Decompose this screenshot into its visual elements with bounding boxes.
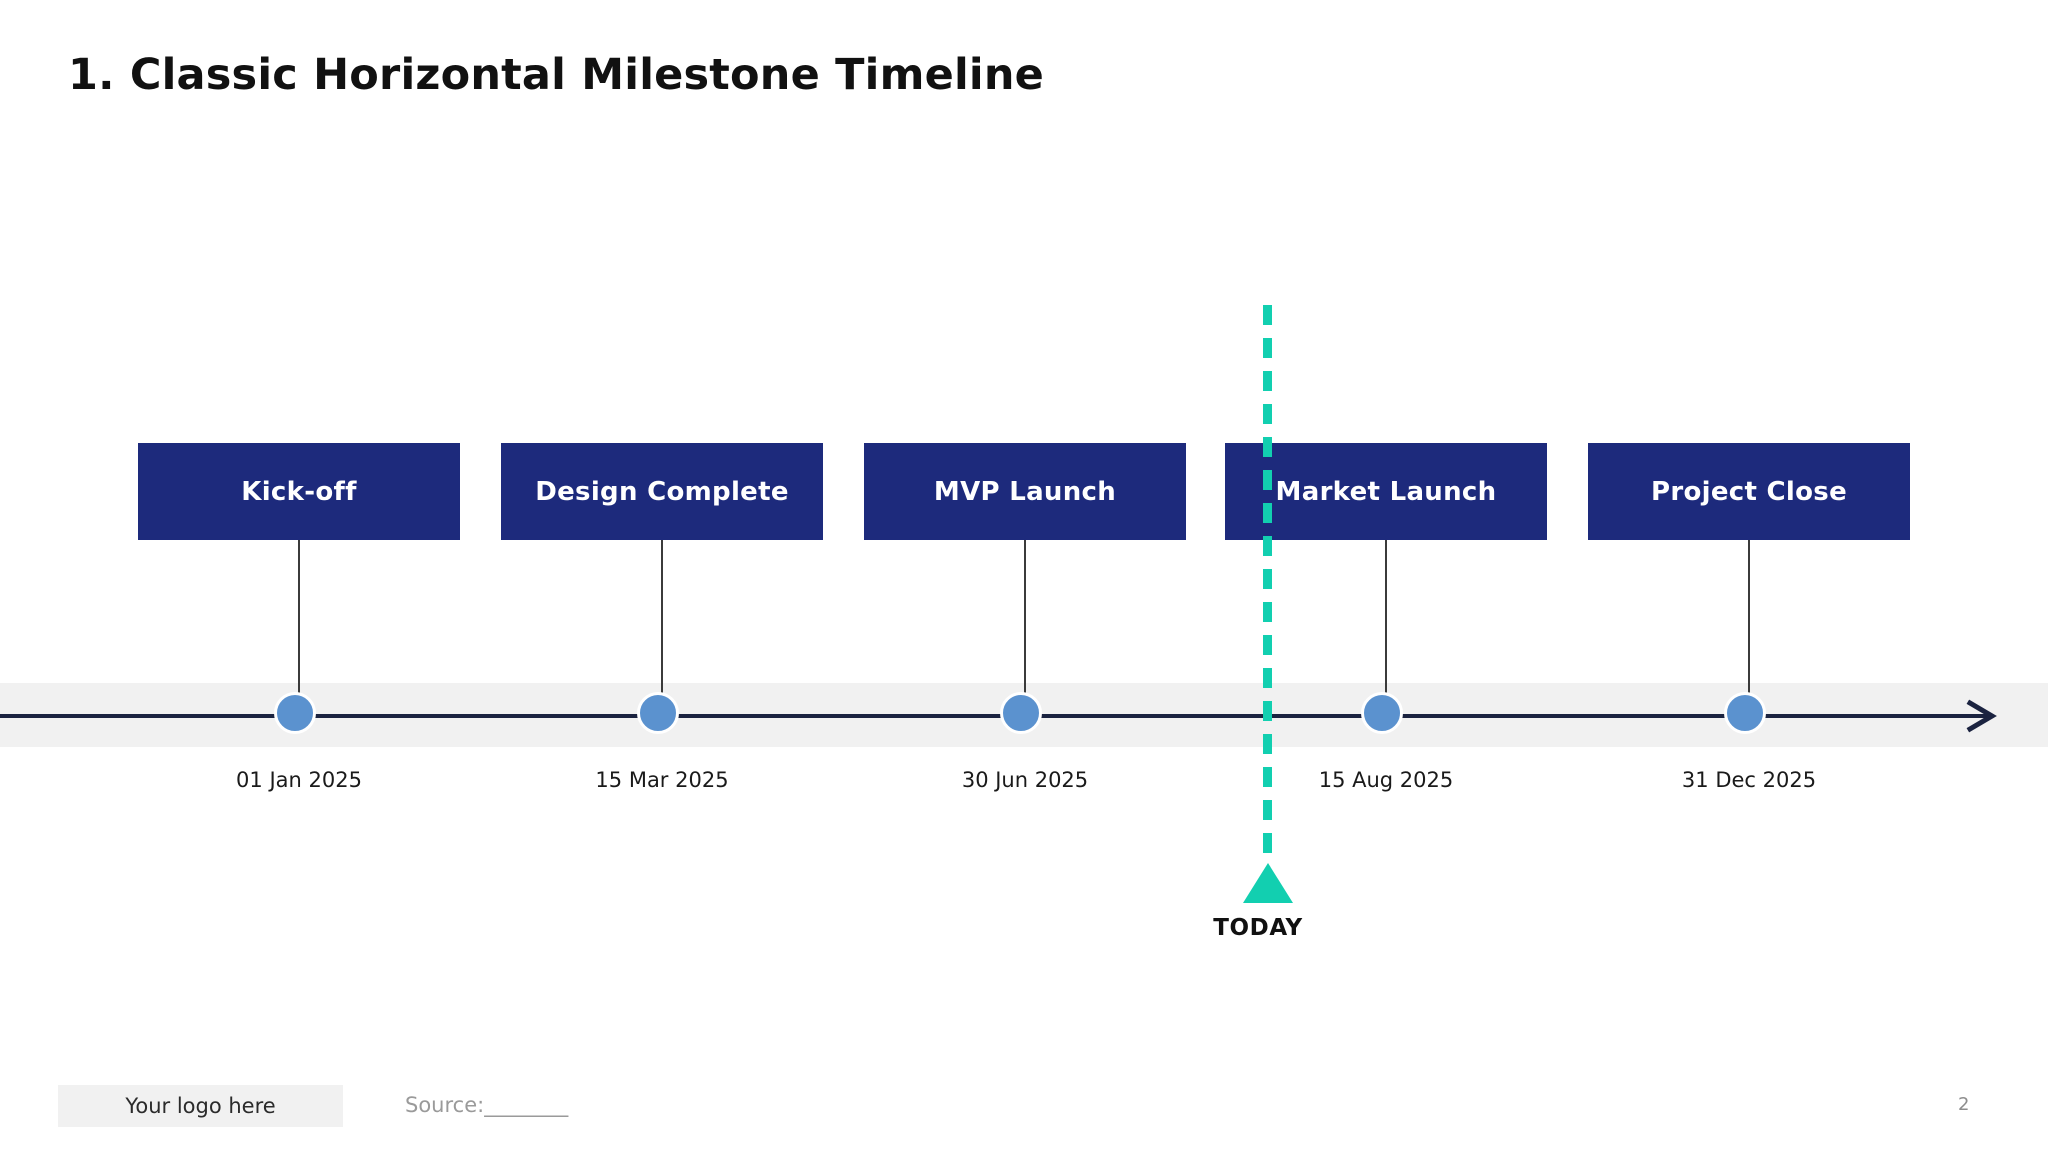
milestone-dot[interactable] bbox=[274, 692, 316, 734]
milestone-box[interactable]: Design Complete bbox=[501, 443, 823, 540]
milestone-dot[interactable] bbox=[1724, 692, 1766, 734]
page-title: 1. Classic Horizontal Milestone Timeline bbox=[68, 52, 1044, 99]
milestone-label: Project Close bbox=[1651, 477, 1847, 507]
milestone-label: Market Launch bbox=[1276, 477, 1497, 507]
milestone-label: Design Complete bbox=[535, 477, 789, 507]
milestone-date: 15 Mar 2025 bbox=[501, 768, 823, 792]
logo-placeholder-box[interactable]: Your logo here bbox=[58, 1085, 343, 1127]
milestone-connector bbox=[661, 540, 663, 717]
logo-placeholder-text: Your logo here bbox=[125, 1094, 275, 1118]
milestone-connector bbox=[1385, 540, 1387, 717]
milestone-date: 30 Jun 2025 bbox=[864, 768, 1186, 792]
triangle-up-icon bbox=[1243, 863, 1293, 903]
milestone-connector bbox=[1024, 540, 1026, 717]
milestone-box[interactable]: MVP Launch bbox=[864, 443, 1186, 540]
slide-canvas: 1. Classic Horizontal Milestone Timeline… bbox=[0, 0, 2048, 1152]
milestone-date: 15 Aug 2025 bbox=[1225, 768, 1547, 792]
today-label: TODAY bbox=[1148, 915, 1368, 941]
milestone-connector bbox=[1748, 540, 1750, 717]
milestone-dot[interactable] bbox=[1000, 692, 1042, 734]
milestone-dot[interactable] bbox=[1361, 692, 1403, 734]
milestone-box[interactable]: Kick-off bbox=[138, 443, 460, 540]
source-label: Source:________ bbox=[405, 1093, 568, 1117]
milestone-date: 01 Jan 2025 bbox=[138, 768, 460, 792]
milestone-box[interactable]: Market Launch bbox=[1225, 443, 1547, 540]
page-number: 2 bbox=[1958, 1094, 1969, 1115]
milestone-label: Kick-off bbox=[241, 477, 356, 507]
arrow-right-icon bbox=[1962, 697, 2002, 735]
milestone-date: 31 Dec 2025 bbox=[1588, 768, 1910, 792]
milestone-box[interactable]: Project Close bbox=[1588, 443, 1910, 540]
milestone-dot[interactable] bbox=[637, 692, 679, 734]
milestone-label: MVP Launch bbox=[934, 477, 1116, 507]
milestone-connector bbox=[298, 540, 300, 717]
